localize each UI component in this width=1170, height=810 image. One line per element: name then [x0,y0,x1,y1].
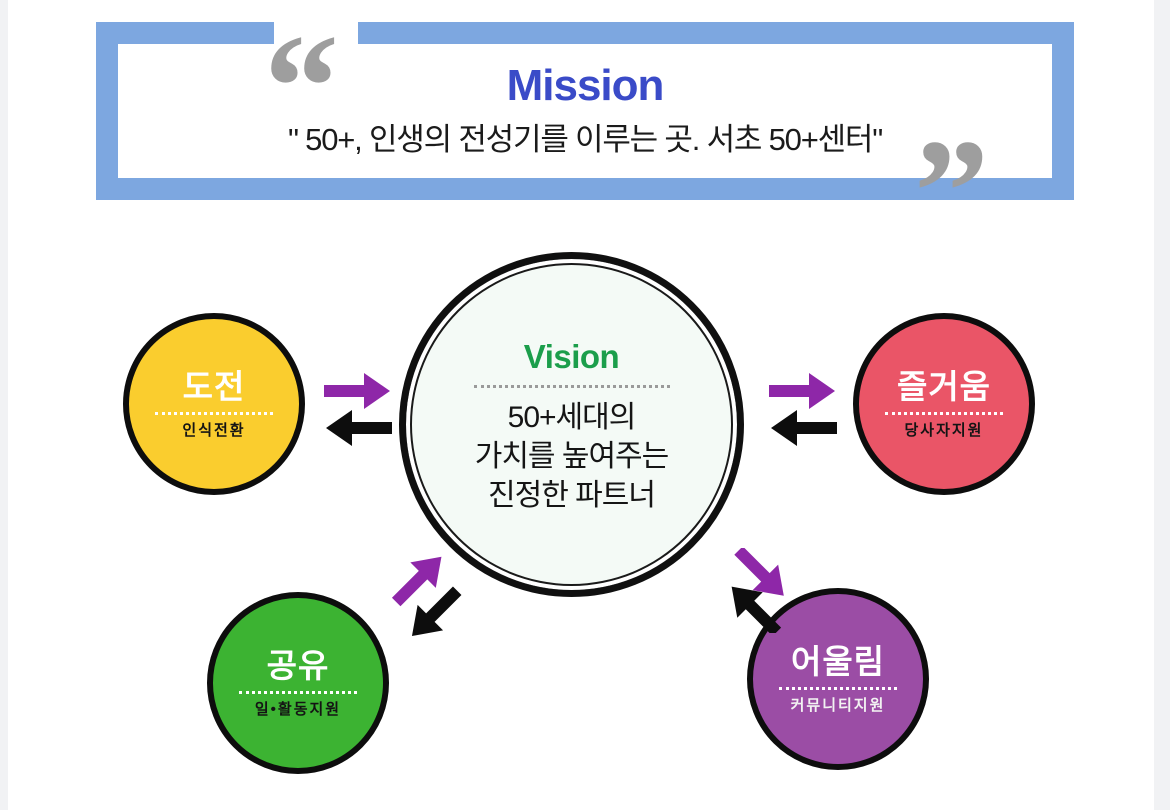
value-divider [155,412,273,415]
value-title: 즐거움 [897,370,991,403]
banner-frame-left [96,22,118,200]
value-title: 도전 [183,370,246,403]
arrow-left-black-icon [771,410,837,446]
value-circle-jeulgeoum[interactable]: 즐거움 당사자지원 [853,313,1035,495]
value-divider [779,687,897,690]
arrow-group-right [765,368,845,453]
mission-banner: Mission " 50+, 인생의 전성기를 이루는 곳. 서초 50+센터"… [96,22,1074,200]
arrow-pair-left [320,368,400,453]
slide-canvas: Mission " 50+, 인생의 전성기를 이루는 곳. 서초 50+센터"… [8,0,1154,810]
value-divider [239,691,357,694]
value-subtitle: 일•활동지원 [255,702,341,717]
banner-frame-right [1052,22,1074,200]
banner-frame-top-left [96,22,274,44]
vision-line-2: 가치를 높여주는 [475,437,669,476]
vision-line-3: 진정한 파트너 [475,476,669,515]
arrow-group-left [320,368,400,453]
arrow-right-purple-icon [324,373,390,409]
arrow-group-bottom-left [386,555,466,640]
arrow-pair-right [765,368,845,453]
arrow-pair-bottom-right [714,548,799,633]
vision-label: Vision [524,338,619,376]
value-circle-gongyu[interactable]: 공유 일•활동지원 [207,592,389,774]
mission-subtitle: " 50+, 인생의 전성기를 이루는 곳. 서초 50+센터" [288,114,882,159]
vision-divider [474,385,670,388]
mission-title: Mission [507,63,664,109]
arrow-group-bottom-right [714,548,799,633]
vision-circle: Vision 50+세대의 가치를 높여주는 진정한 파트너 [399,252,744,597]
arrow-right-purple-icon [769,373,835,409]
value-title: 어울림 [791,645,885,678]
arrow-pair-bottom-left [386,555,466,640]
value-subtitle: 당사자지원 [904,423,983,438]
mission-content: Mission " 50+, 인생의 전성기를 이루는 곳. 서초 50+센터" [118,44,1052,178]
vision-line-1: 50+세대의 [475,398,669,437]
value-subtitle: 커뮤니티지원 [791,698,886,713]
value-title: 공유 [267,649,330,682]
open-quote-icon: “ [264,12,335,162]
page-left-margin [0,0,8,810]
value-circle-dojeon[interactable]: 도전 인식전환 [123,313,305,495]
value-divider [885,412,1003,415]
banner-frame-top-right [358,22,1074,44]
vision-statement: 50+세대의 가치를 높여주는 진정한 파트너 [475,398,669,515]
vision-values-diagram: Vision 50+세대의 가치를 높여주는 진정한 파트너 도전 인식전환 즐… [8,200,1154,810]
page-right-margin [1154,0,1170,810]
value-subtitle: 인식전환 [182,423,245,438]
arrow-left-black-icon [326,410,392,446]
